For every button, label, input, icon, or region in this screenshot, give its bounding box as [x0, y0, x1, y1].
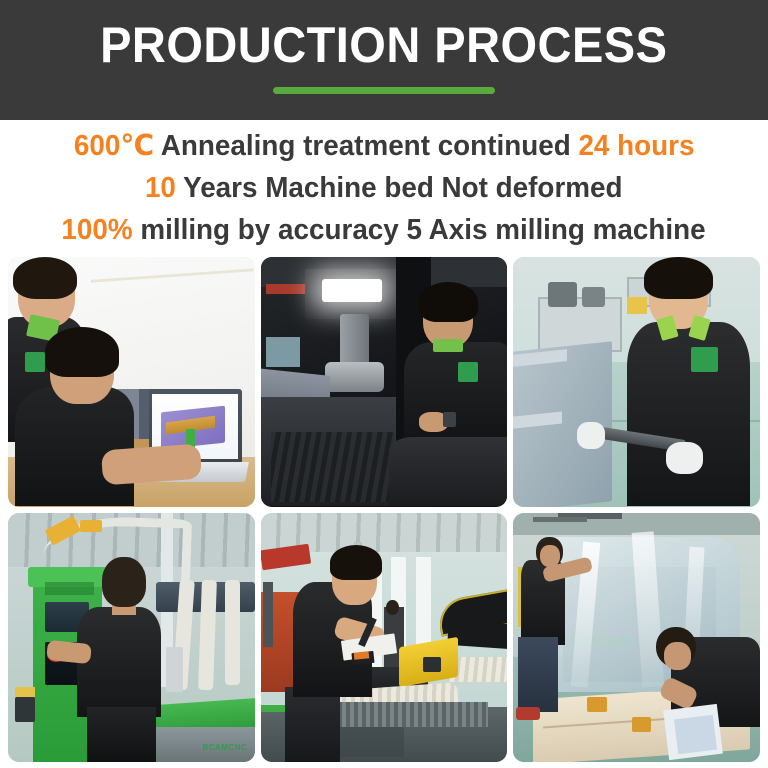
headline-line-1: 600℃ Annealing treatment continued 24 ho…: [74, 125, 695, 167]
photo-tile-packing-shipping: [513, 513, 760, 763]
headline-1-duration: 24 hours: [578, 130, 694, 162]
machine-brand-label: BCAMCNC: [202, 743, 247, 752]
photo-tile-design-review: [8, 257, 255, 507]
headline-3-percent: 100%: [62, 214, 133, 246]
headline-line-3: 100% milling by accuracy 5 Axis milling …: [62, 209, 706, 251]
photo-tile-quality-inspection: [261, 513, 508, 763]
photo-tile-machine-bed-milling: [261, 257, 508, 507]
production-process-banner: PRODUCTION PROCESS 600℃ Annealing treatm…: [0, 0, 768, 768]
headline-line-2: 10 Years Machine bed Not deformed: [145, 167, 623, 209]
photo-tile-cnc-operation: BCAMCNC: [8, 513, 255, 763]
page-title: PRODUCTION PROCESS: [100, 17, 667, 73]
headline-1-temperature: 600℃: [74, 130, 154, 162]
title-underline-accent: [273, 87, 495, 94]
headline-3-body: milling by accuracy 5 Axis milling machi…: [133, 214, 706, 246]
headline-block: 600℃ Annealing treatment continued 24 ho…: [0, 120, 768, 255]
headline-2-body: Years Machine bed Not deformed: [176, 172, 623, 204]
process-photo-grid: BCAMCNC: [8, 257, 760, 762]
photo-tile-assembly-wrench: [513, 257, 760, 507]
headline-2-years: 10: [145, 172, 176, 204]
headline-1-body: Annealing treatment continued: [154, 130, 578, 162]
header-band: PRODUCTION PROCESS: [0, 0, 768, 120]
